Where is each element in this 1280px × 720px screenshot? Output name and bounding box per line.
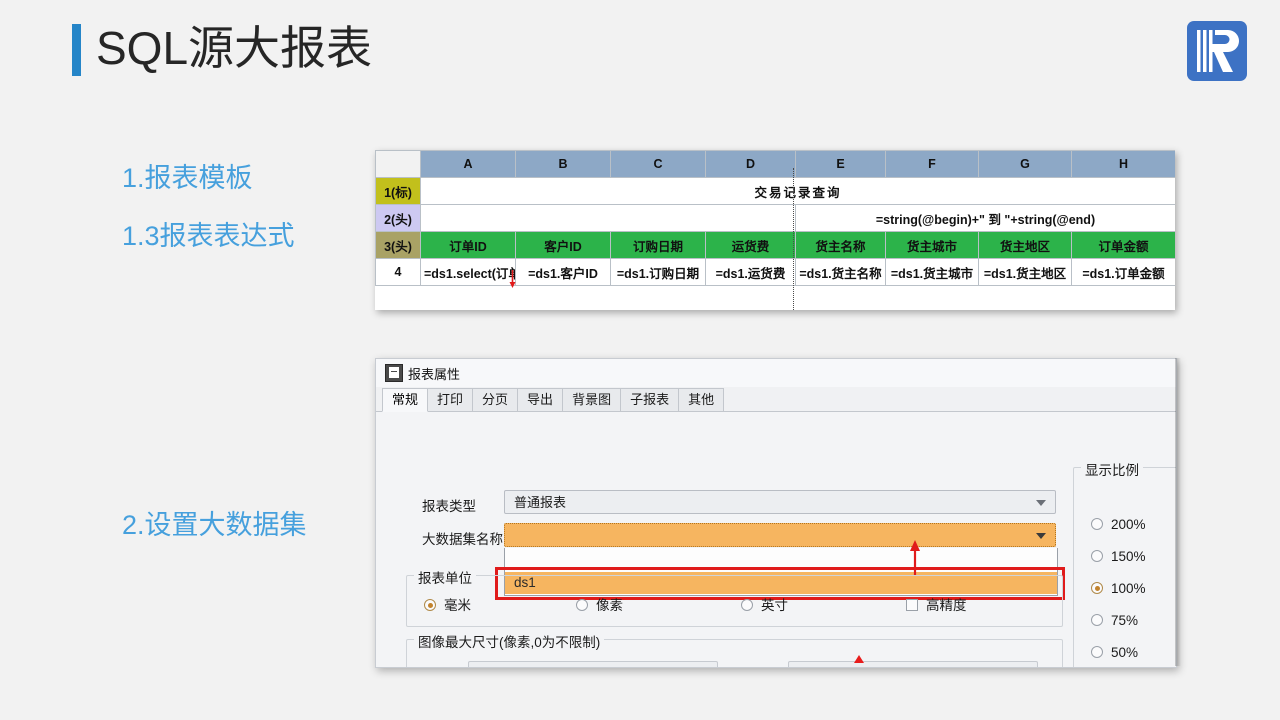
table-row: 4 =ds1.select(订单 =ds1.客户ID =ds1.订购日期 =ds…: [376, 259, 1176, 286]
image-height-stepper[interactable]: 0: [788, 661, 1038, 668]
cell-overflow-marker-icon: [509, 270, 516, 288]
cell-header-order-id[interactable]: 订单ID: [421, 232, 516, 259]
side-label-report-expression: 1.3报表表达式: [122, 219, 295, 253]
dialog-title: 报表属性: [408, 364, 460, 383]
cell-expr-order-date[interactable]: =ds1.订购日期: [611, 259, 706, 286]
radio-zoom-75[interactable]: 75%: [1091, 613, 1138, 629]
radio-unit-px[interactable]: 像素: [576, 598, 623, 614]
checkbox-high-precision[interactable]: 高精度: [906, 598, 967, 614]
report-designer-grid[interactable]: A B C D E F G H 1(标) 交易记录查询 2(头) =string…: [375, 150, 1175, 310]
stepper-up-icon[interactable]: [703, 667, 711, 668]
cell-blank-a2[interactable]: [421, 205, 796, 232]
cell-expr-customer-id[interactable]: =ds1.客户ID: [516, 259, 611, 286]
radio-unit-mm[interactable]: 毫米: [424, 598, 471, 614]
column-header-d[interactable]: D: [706, 151, 796, 178]
page-header: SQL源大报表: [0, 0, 1280, 105]
dialog-tabstrip: 常规打印分页导出背景图子报表其他: [376, 387, 1176, 412]
stepper-up-icon[interactable]: [1023, 667, 1031, 668]
page-title: SQL源大报表: [96, 17, 372, 79]
radio-zoom-150[interactable]: 150%: [1091, 549, 1146, 565]
column-header-c[interactable]: C: [611, 151, 706, 178]
grid-corner[interactable]: [376, 151, 421, 178]
report-properties-dialog[interactable]: 报表属性 常规打印分页导出背景图子报表其他 报表类型 普通报表 大数据集名称 d…: [375, 358, 1177, 668]
report-type-select[interactable]: 普通报表: [504, 490, 1056, 514]
tab-other[interactable]: 其他: [678, 388, 724, 411]
row-header-2[interactable]: 2(头): [376, 205, 421, 232]
cell-header-order-date[interactable]: 订购日期: [611, 232, 706, 259]
radio-zoom-100[interactable]: 100%: [1091, 581, 1146, 597]
dialog-body: 报表类型 普通报表 大数据集名称 ds1 报表单位 毫米 像素 英寸 高精度: [376, 412, 1176, 667]
tab-general[interactable]: 常规: [382, 388, 428, 412]
table-row: 1(标) 交易记录查询: [376, 178, 1176, 205]
column-header-h[interactable]: H: [1072, 151, 1176, 178]
label-bigdataset-name: 大数据集名称: [422, 528, 503, 548]
image-max-size-group-title: 图像最大尺寸(像素,0为不限制): [414, 631, 604, 651]
tab-subreport[interactable]: 子报表: [620, 388, 679, 411]
side-label-report-template: 1.报表模板: [122, 161, 253, 195]
cell-header-ship-name[interactable]: 货主名称: [796, 232, 886, 259]
column-header-a[interactable]: A: [421, 151, 516, 178]
column-header-f[interactable]: F: [886, 151, 979, 178]
column-header-e[interactable]: E: [796, 151, 886, 178]
chevron-down-icon: [1036, 500, 1046, 506]
side-label-set-bigdataset: 2.设置大数据集: [122, 508, 307, 542]
cell-expr-ship-name[interactable]: =ds1.货主名称: [796, 259, 886, 286]
tab-paging[interactable]: 分页: [472, 388, 518, 411]
spreadsheet-table: A B C D E F G H 1(标) 交易记录查询 2(头) =string…: [375, 150, 1175, 286]
bigdataset-name-select[interactable]: [504, 523, 1056, 547]
annotation-triangle-marker-icon: [854, 655, 864, 663]
chevron-down-icon: [1036, 533, 1046, 539]
label-report-type: 报表类型: [422, 495, 476, 515]
cell-expr-freight[interactable]: =ds1.运货费: [706, 259, 796, 286]
image-width-stepper[interactable]: 0: [468, 661, 718, 668]
cell-header-order-amount[interactable]: 订单金额: [1072, 232, 1176, 259]
table-row: 3(头) 订单ID 客户ID 订购日期 运货费 货主名称 货主城市 货主地区 订…: [376, 232, 1176, 259]
report-unit-group-title: 报表单位: [414, 567, 476, 587]
dialog-titlebar: 报表属性: [376, 359, 1176, 387]
cell-header-customer-id[interactable]: 客户ID: [516, 232, 611, 259]
radio-unit-inch[interactable]: 英寸: [741, 598, 788, 614]
page-break-line-icon: [793, 168, 794, 310]
image-width-value: 0: [688, 666, 695, 668]
column-header-row: A B C D E F G H: [376, 151, 1176, 178]
cell-expr-ship-city[interactable]: =ds1.货主城市: [886, 259, 979, 286]
tab-print[interactable]: 打印: [427, 388, 473, 411]
report-type-value: 普通报表: [514, 495, 566, 510]
cell-report-title[interactable]: 交易记录查询: [421, 178, 1176, 205]
label-image-width: 宽度: [424, 666, 451, 668]
brand-logo-icon: [1186, 20, 1248, 82]
row-header-4[interactable]: 4: [376, 259, 421, 286]
report-icon: [385, 364, 403, 382]
radio-zoom-200[interactable]: 200%: [1091, 517, 1146, 533]
cell-header-freight[interactable]: 运货费: [706, 232, 796, 259]
column-header-b[interactable]: B: [516, 151, 611, 178]
tab-background[interactable]: 背景图: [562, 388, 621, 411]
cell-expr-order-id[interactable]: =ds1.select(订单: [421, 259, 516, 286]
row-header-3[interactable]: 3(头): [376, 232, 421, 259]
display-scale-group: [1073, 467, 1177, 668]
title-accent-bar: [72, 24, 81, 76]
dialog-clip-shadow: [1175, 358, 1181, 666]
cell-header-ship-region[interactable]: 货主地区: [979, 232, 1072, 259]
table-row: 2(头) =string(@begin)+" 到 "+string(@end): [376, 205, 1176, 232]
cell-expr-ship-region[interactable]: =ds1.货主地区: [979, 259, 1072, 286]
tab-export[interactable]: 导出: [517, 388, 563, 411]
cell-expr-order-amount[interactable]: =ds1.订单金额: [1072, 259, 1176, 286]
annotation-arrow-up-icon: [909, 540, 921, 576]
row-header-1[interactable]: 1(标): [376, 178, 421, 205]
display-scale-group-title: 显示比例: [1081, 459, 1143, 479]
column-header-g[interactable]: G: [979, 151, 1072, 178]
image-height-value: 0: [1008, 666, 1015, 668]
cell-header-ship-city[interactable]: 货主城市: [886, 232, 979, 259]
radio-zoom-50[interactable]: 50%: [1091, 645, 1138, 661]
label-image-height: 高度: [741, 666, 768, 668]
cell-param-expression[interactable]: =string(@begin)+" 到 "+string(@end): [796, 205, 1176, 232]
